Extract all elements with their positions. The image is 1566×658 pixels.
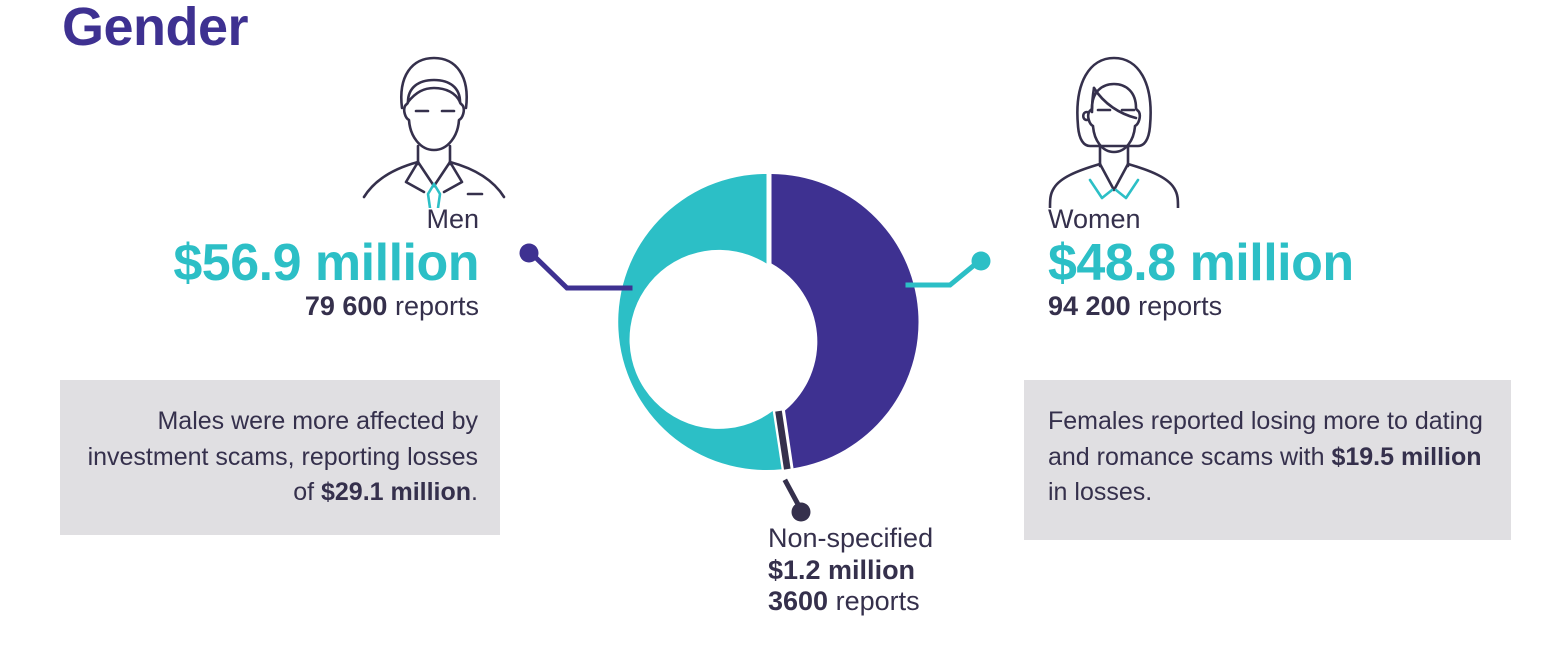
- donut-slice-men: [618, 174, 781, 470]
- nonspecified-reports: 3600 reports: [768, 586, 1098, 617]
- nonspecified-amount: $1.2 million: [768, 554, 1098, 586]
- nonspecified-reports-value: 3600: [768, 586, 828, 616]
- men-reports-suffix: reports: [387, 291, 479, 321]
- men-note-highlight: $29.1 million: [321, 478, 471, 506]
- men-leader-line: [520, 244, 631, 289]
- nonspecified-stat-block: Non-specified $1.2 million 3600 reports: [768, 524, 1098, 617]
- women-leader-dot: [972, 252, 991, 271]
- page-title: Gender: [62, 0, 248, 57]
- women-note-suffix: in losses.: [1048, 478, 1152, 506]
- men-reports: 79 600 reports: [60, 291, 479, 322]
- nonspecified-leader-dot: [792, 503, 811, 522]
- women-stat-block: Women $48.8 million 94 200 reports: [1048, 205, 1518, 322]
- men-reports-value: 79 600: [305, 291, 388, 321]
- nonspecified-leader-line: [786, 482, 811, 522]
- nonspecified-label: Non-specified: [768, 524, 1098, 554]
- women-reports-suffix: reports: [1131, 291, 1223, 321]
- woman-avatar-icon: [1032, 42, 1196, 208]
- women-label: Women: [1048, 205, 1518, 235]
- women-note-highlight: $19.5 million: [1331, 443, 1481, 471]
- men-leader-dot: [520, 244, 539, 263]
- man-avatar-icon: [352, 42, 516, 208]
- women-note-box: Females reported losing more to dating a…: [1024, 380, 1511, 540]
- donut-slice-women: [772, 174, 919, 468]
- women-reports: 94 200 reports: [1048, 291, 1518, 322]
- men-stat-block: Men $56.9 million 79 600 reports: [60, 205, 479, 322]
- donut-slice-nonspecified: [775, 411, 790, 470]
- women-amount: $48.8 million: [1048, 235, 1518, 291]
- men-note-box: Males were more affected by investment s…: [60, 380, 500, 535]
- men-label: Men: [60, 205, 479, 235]
- women-leader-line: [908, 252, 991, 286]
- women-reports-value: 94 200: [1048, 291, 1131, 321]
- men-note-suffix: .: [471, 478, 478, 506]
- men-amount: $56.9 million: [60, 235, 479, 291]
- nonspecified-reports-suffix: reports: [828, 586, 920, 616]
- infographic-canvas: Gender: [0, 0, 1566, 658]
